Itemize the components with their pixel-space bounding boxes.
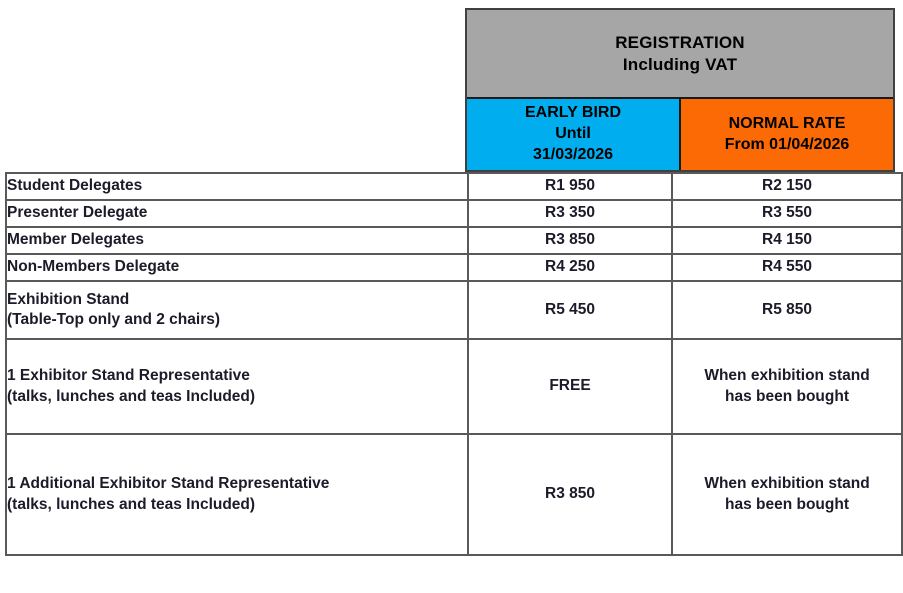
row-price-normal: R4 150 <box>672 227 902 254</box>
row-label: 1 Exhibitor Stand Representative (talks,… <box>6 339 468 434</box>
registration-title-line2: Including VAT <box>615 54 745 76</box>
row-label-line1: Exhibition Stand <box>7 290 467 310</box>
rates-table: Student Delegates R1 950 R2 150 Presente… <box>5 172 903 556</box>
table-row: Presenter Delegate R3 350 R3 550 <box>6 200 902 227</box>
row-label-line2: (talks, lunches and teas Included) <box>7 495 467 515</box>
row-price-normal: When exhibition stand has been bought <box>672 339 902 434</box>
row-label: Exhibition Stand (Table-Top only and 2 c… <box>6 281 468 339</box>
early-bird-line3: 31/03/2026 <box>525 145 621 166</box>
table-row: 1 Additional Exhibitor Stand Representat… <box>6 434 902 555</box>
row-label-line2: (Table-Top only and 2 chairs) <box>7 310 467 330</box>
row-price-early: R3 850 <box>468 227 672 254</box>
row-label-line1: 1 Additional Exhibitor Stand Representat… <box>7 474 467 494</box>
registration-title: REGISTRATION Including VAT <box>467 10 893 99</box>
table-row: Member Delegates R3 850 R4 150 <box>6 227 902 254</box>
normal-rate-line2: From 01/04/2026 <box>725 135 850 156</box>
rate-column-headers: EARLY BIRD Until 31/03/2026 NORMAL RATE … <box>467 99 893 170</box>
row-label-line1: Presenter Delegate <box>7 203 467 223</box>
early-bird-line1: EARLY BIRD <box>525 103 621 124</box>
row-price-early: R1 950 <box>468 173 672 200</box>
row-label: 1 Additional Exhibitor Stand Representat… <box>6 434 468 555</box>
row-label: Presenter Delegate <box>6 200 468 227</box>
row-price-normal: R5 850 <box>672 281 902 339</box>
row-label-line1: 1 Exhibitor Stand Representative <box>7 366 467 386</box>
table-row: Exhibition Stand (Table-Top only and 2 c… <box>6 281 902 339</box>
row-label: Member Delegates <box>6 227 468 254</box>
row-price-normal: R3 550 <box>672 200 902 227</box>
row-price-normal: R4 550 <box>672 254 902 281</box>
normal-rate-line1: NORMAL RATE <box>725 114 850 135</box>
row-price-early: R5 450 <box>468 281 672 339</box>
column-header-early-bird: EARLY BIRD Until 31/03/2026 <box>467 99 681 170</box>
table-row: 1 Exhibitor Stand Representative (talks,… <box>6 339 902 434</box>
table-row: Non-Members Delegate R4 250 R4 550 <box>6 254 902 281</box>
row-price-early: R3 350 <box>468 200 672 227</box>
row-price-early: R3 850 <box>468 434 672 555</box>
row-price-normal: When exhibition stand has been bought <box>672 434 902 555</box>
table-row: Student Delegates R1 950 R2 150 <box>6 173 902 200</box>
row-price-normal-line1: When exhibition stand <box>673 474 901 494</box>
registration-header: REGISTRATION Including VAT EARLY BIRD Un… <box>465 8 895 172</box>
column-header-normal-rate: NORMAL RATE From 01/04/2026 <box>681 99 893 170</box>
row-label-line1: Member Delegates <box>7 230 467 250</box>
row-price-normal-line2: has been bought <box>673 495 901 515</box>
row-label-line1: Student Delegates <box>7 176 467 196</box>
row-price-early: R4 250 <box>468 254 672 281</box>
row-price-early: FREE <box>468 339 672 434</box>
early-bird-line2: Until <box>525 124 621 145</box>
row-price-normal-line1: When exhibition stand <box>673 366 901 386</box>
row-label: Non-Members Delegate <box>6 254 468 281</box>
registration-title-line1: REGISTRATION <box>615 32 745 54</box>
row-price-normal: R2 150 <box>672 173 902 200</box>
row-price-normal-line2: has been bought <box>673 387 901 407</box>
rate-card: REGISTRATION Including VAT EARLY BIRD Un… <box>0 0 903 593</box>
row-label: Student Delegates <box>6 173 468 200</box>
row-label-line2: (talks, lunches and teas Included) <box>7 387 467 407</box>
row-label-line1: Non-Members Delegate <box>7 257 467 277</box>
